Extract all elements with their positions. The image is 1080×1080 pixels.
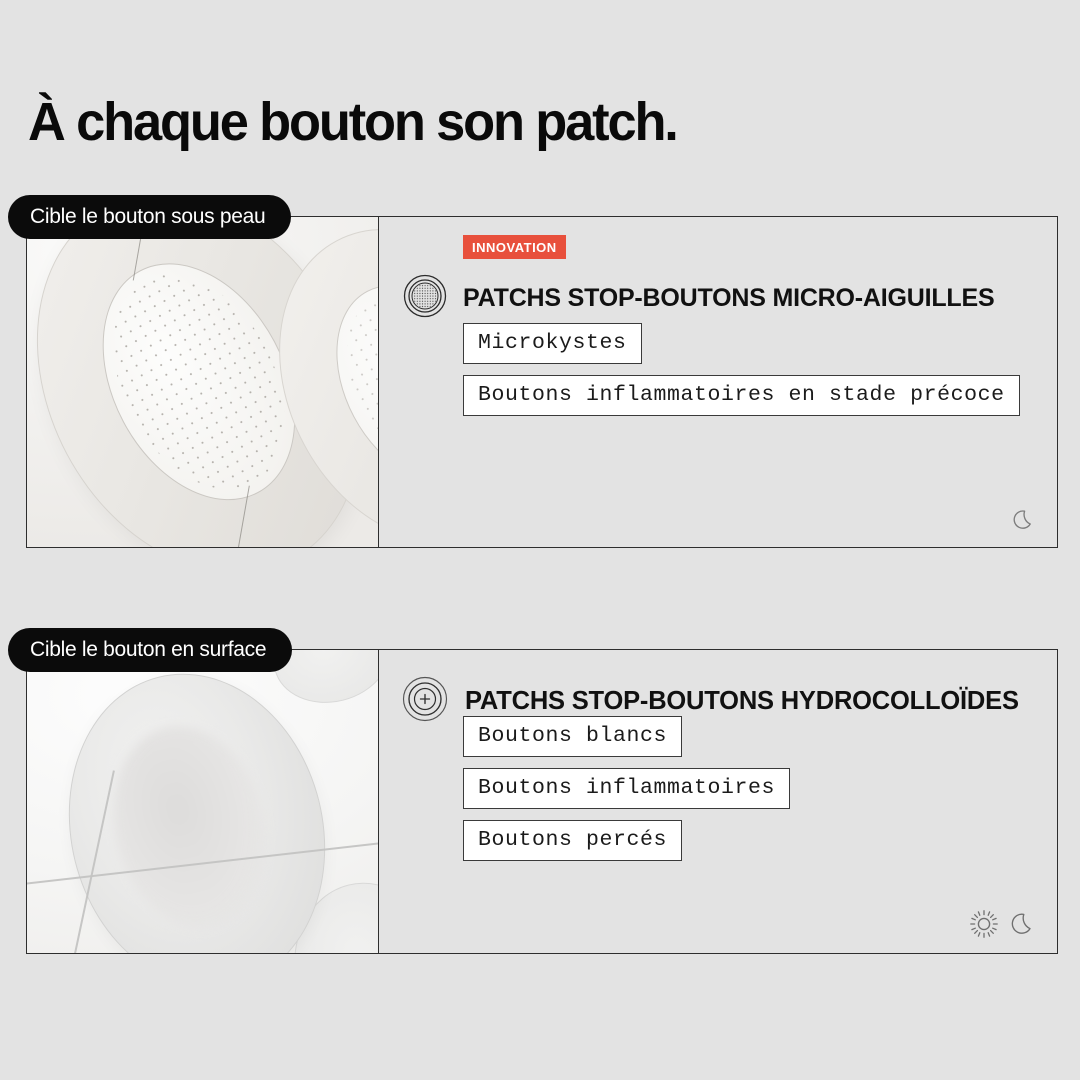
innovation-badge: INNOVATION bbox=[463, 235, 566, 259]
section-pill-label: Cible le bouton en surface bbox=[8, 628, 292, 672]
indication-tag: Boutons blancs bbox=[463, 716, 682, 757]
moon-icon bbox=[1011, 507, 1037, 533]
product-details: PATCHS STOP-BOUTONS HYDROCOLLOÏDES Bouto… bbox=[379, 650, 1057, 953]
hydrocolloid-patch-icon bbox=[401, 675, 449, 728]
indication-tag: Boutons percés bbox=[463, 820, 682, 861]
microneedle-dot-texture bbox=[319, 273, 379, 495]
product-card: INNOVATION bbox=[26, 216, 1058, 548]
product-card: PATCHS STOP-BOUTONS HYDROCOLLOÏDES Bouto… bbox=[26, 649, 1058, 954]
patch-dome-shading bbox=[92, 710, 287, 946]
product-title: PATCHS STOP-BOUTONS HYDROCOLLOÏDES bbox=[465, 687, 1019, 716]
indication-tag: Boutons inflammatoires bbox=[463, 768, 790, 809]
indication-tag-list: Microkystes Boutons inflammatoires en st… bbox=[463, 323, 1020, 416]
moon-icon bbox=[1009, 910, 1037, 938]
usage-time-icons bbox=[969, 909, 1037, 939]
page-title: À chaque bouton son patch. bbox=[28, 94, 677, 151]
indication-tag-list: Boutons blancs Boutons inflammatoires Bo… bbox=[463, 716, 790, 861]
product-details: INNOVATION bbox=[379, 217, 1057, 547]
microneedle-patch-icon bbox=[403, 274, 447, 323]
product-heading-row: PATCHS STOP-BOUTONS MICRO-AIGUILLES bbox=[403, 274, 994, 323]
section-pill-label: Cible le bouton sous peau bbox=[8, 195, 291, 239]
sun-icon bbox=[969, 909, 999, 939]
usage-time-icons bbox=[1011, 507, 1037, 533]
product-title: PATCHS STOP-BOUTONS MICRO-AIGUILLES bbox=[463, 284, 994, 313]
indication-tag: Microkystes bbox=[463, 323, 642, 364]
indication-tag: Boutons inflammatoires en stade précoce bbox=[463, 375, 1020, 416]
product-image-hydrocolloid-patch bbox=[27, 650, 379, 953]
product-image-microneedle-patch bbox=[27, 217, 379, 547]
